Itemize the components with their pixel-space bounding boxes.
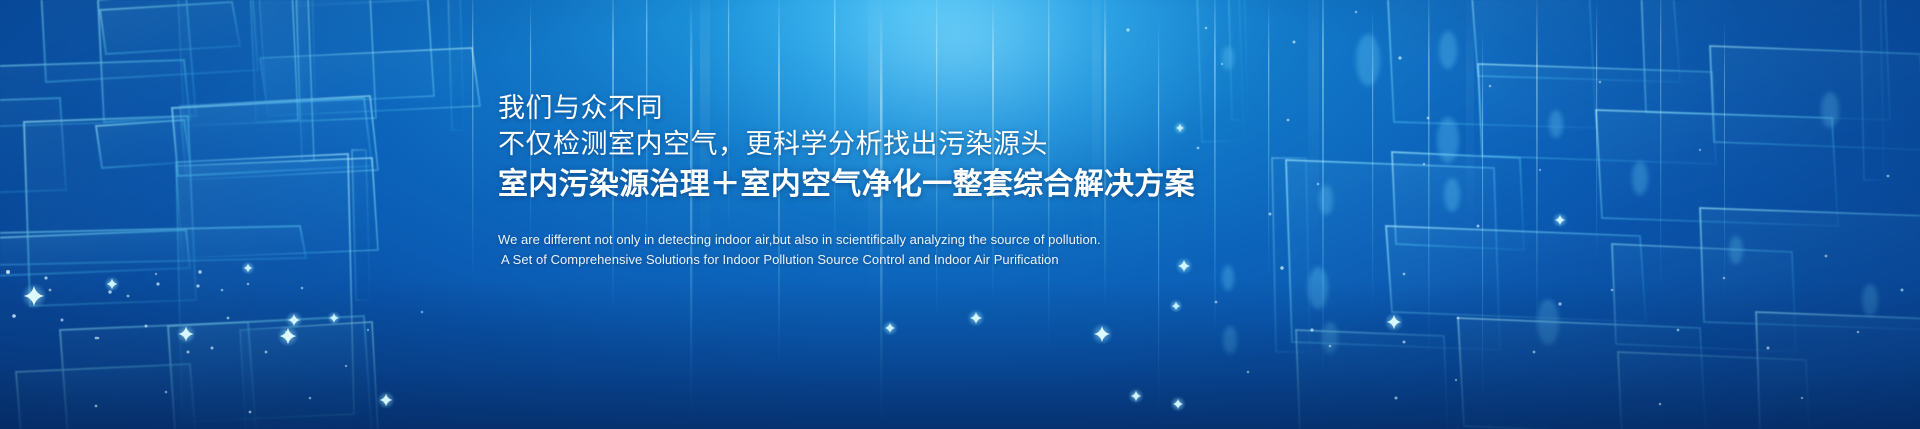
hero-banner: 我们与众不同 不仅检测室内空气，更科学分析找出污染源头 室内污染源治理＋室内空气…: [0, 0, 1920, 429]
headline-line-3: 室内污染源治理＋室内空气净化一整套综合解决方案: [498, 167, 1498, 203]
subtitle-block: We are different not only in detecting i…: [498, 230, 1498, 270]
banner-copy: 我们与众不同 不仅检测室内空气，更科学分析找出污染源头 室内污染源治理＋室内空气…: [498, 92, 1498, 270]
headline-line-2: 不仅检测室内空气，更科学分析找出污染源头: [498, 128, 1498, 161]
subtitle-line-1: We are different not only in detecting i…: [498, 230, 1498, 250]
subtitle-line-2: A Set of Comprehensive Solutions for Ind…: [498, 250, 1498, 270]
headline-line-1: 我们与众不同: [498, 92, 1498, 125]
